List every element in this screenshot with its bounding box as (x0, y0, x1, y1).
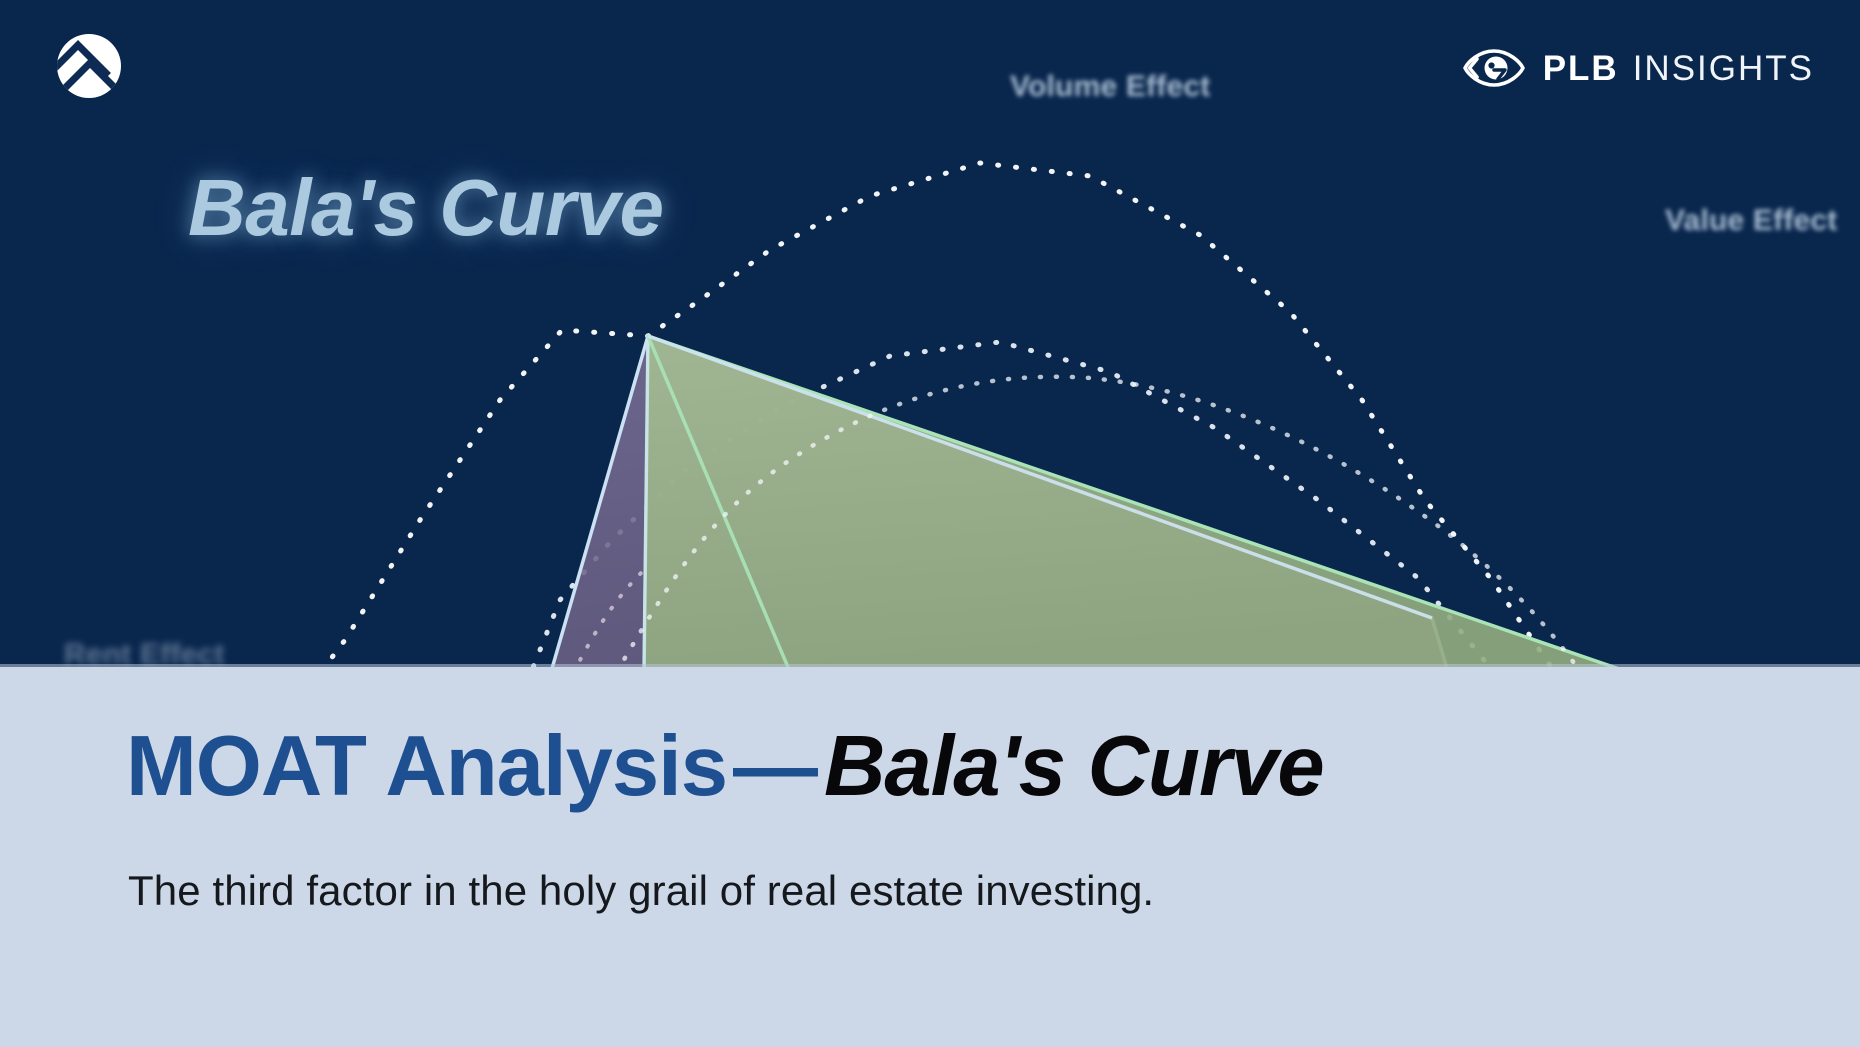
brand-name-light: INSIGHTS (1633, 51, 1814, 86)
chevron-stack-circle-icon (56, 33, 122, 99)
page-subtitle: The third factor in the holy grail of re… (128, 867, 1154, 915)
page-title-primary: MOAT Analysis (126, 719, 727, 814)
page-title: MOAT Analysis—Bala's Curve (126, 723, 1324, 811)
bala-curve-chart (0, 0, 1860, 667)
moat-analysis-card: Bala's Curve Volume Effect Value Effect … (0, 0, 1860, 1047)
caption-band: MOAT Analysis—Bala's Curve The third fac… (0, 667, 1860, 1047)
plb-wordmark: PLB INSIGHTS (1543, 51, 1814, 86)
brand-name-bold: PLB (1543, 51, 1619, 86)
plb-insights-lockup[interactable]: PLB INSIGHTS (1463, 40, 1814, 96)
eye-icon (1463, 48, 1525, 88)
page-title-italic: Bala's Curve (824, 719, 1324, 814)
page-title-dash: — (727, 719, 824, 814)
hero-chart-panel: Bala's Curve Volume Effect Value Effect … (0, 0, 1860, 667)
brand-mark[interactable] (56, 33, 122, 99)
